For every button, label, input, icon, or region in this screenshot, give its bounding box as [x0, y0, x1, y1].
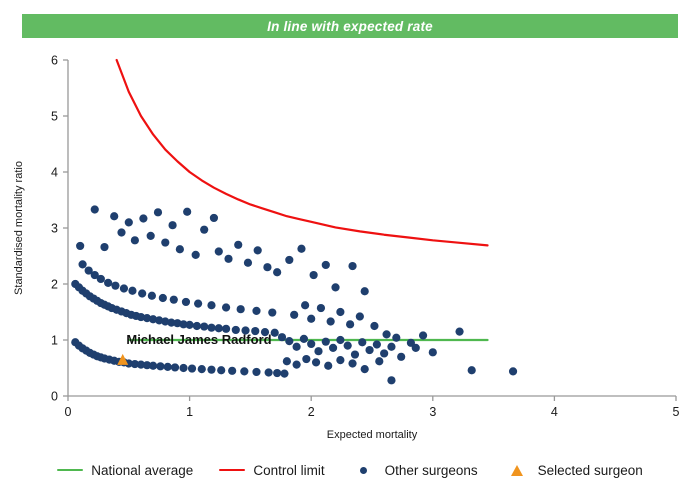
surgeon-point [182, 298, 190, 306]
surgeon-point [310, 271, 318, 279]
legend-triangle-icon-glyph [511, 465, 523, 476]
surgeon-point [283, 357, 291, 365]
surgeon-point [297, 245, 305, 253]
surgeon-point [188, 364, 196, 372]
x-tick-label: 0 [65, 405, 72, 419]
surgeon-point [285, 256, 293, 264]
surgeon-point [412, 344, 420, 352]
x-tick-label: 3 [429, 405, 436, 419]
surgeon-point [324, 362, 332, 370]
surgeon-point [193, 322, 201, 330]
surgeon-point [468, 366, 476, 374]
legend-dot-icon-glyph [360, 467, 367, 474]
surgeon-point [312, 358, 320, 366]
surgeon-point [207, 366, 215, 374]
y-tick-label: 5 [51, 110, 58, 124]
surgeon-point [336, 356, 344, 364]
x-tick-label: 1 [186, 405, 193, 419]
x-tick-label: 2 [308, 405, 315, 419]
surgeon-point [387, 343, 395, 351]
legend-line-icon [219, 463, 245, 477]
surgeon-point [322, 338, 330, 346]
surgeon-point [78, 260, 86, 268]
y-tick-label: 0 [51, 390, 58, 404]
plot-canvas: 0123450123456Expected mortalityStandardi… [0, 0, 700, 500]
surgeon-point [278, 333, 286, 341]
surgeon-point [336, 336, 344, 344]
surgeon-point [91, 205, 99, 213]
legend-line-icon-glyph [57, 469, 83, 472]
surgeon-point [375, 357, 383, 365]
surgeon-point [348, 359, 356, 367]
surgeon-point [336, 308, 344, 316]
legend-label: National average [91, 463, 193, 478]
surgeon-point [344, 342, 352, 350]
surgeon-point [240, 367, 248, 375]
surgeon-point [170, 296, 178, 304]
surgeon-point [314, 347, 322, 355]
surgeon-point [380, 349, 388, 357]
surgeon-point [356, 312, 364, 320]
surgeon-point [111, 282, 119, 290]
surgeon-point [183, 208, 191, 216]
surgeon-point [171, 363, 179, 371]
chart-legend: National averageControl limitOther surge… [0, 455, 700, 485]
surgeon-point [429, 348, 437, 356]
surgeon-point [346, 320, 354, 328]
legend-item-other-surgeons[interactable]: Other surgeons [351, 463, 478, 478]
surgeon-point [265, 368, 273, 376]
surgeon-point [351, 350, 359, 358]
surgeon-point [307, 340, 315, 348]
surgeon-point [207, 301, 215, 309]
surgeon-point [285, 337, 293, 345]
legend-item-control-limit[interactable]: Control limit [219, 463, 324, 478]
y-tick-label: 1 [51, 334, 58, 348]
legend-item-national-average[interactable]: National average [57, 463, 193, 478]
y-tick-label: 6 [51, 54, 58, 68]
surgeon-point [161, 238, 169, 246]
surgeon-point [382, 330, 390, 338]
surgeon-point [159, 294, 167, 302]
y-tick-label: 4 [51, 166, 58, 180]
surgeon-point [200, 322, 208, 330]
surgeon-point [301, 301, 309, 309]
chart-root: In line with expected rate 0123450123456… [0, 0, 700, 500]
surgeon-point [327, 317, 335, 325]
funnel-plot: 0123450123456Expected mortalityStandardi… [0, 0, 700, 500]
surgeon-point [154, 208, 162, 216]
surgeon-point [317, 304, 325, 312]
control-limit-line [117, 60, 488, 245]
surgeon-point [179, 364, 187, 372]
surgeon-point [207, 324, 215, 332]
surgeon-point [300, 335, 308, 343]
surgeon-point [273, 369, 281, 377]
surgeon-point [192, 251, 200, 259]
axes: 0123450123456Expected mortalityStandardi… [13, 54, 680, 442]
surgeon-point [228, 367, 236, 375]
surgeon-point [168, 221, 176, 229]
surgeon-point [392, 334, 400, 342]
surgeon-point [397, 353, 405, 361]
surgeon-point [120, 284, 128, 292]
surgeon-point [222, 303, 230, 311]
surgeon-point [365, 346, 373, 354]
surgeon-point [419, 331, 427, 339]
surgeon-point [176, 245, 184, 253]
y-tick-label: 3 [51, 222, 58, 236]
surgeon-point [293, 361, 301, 369]
surgeon-point [217, 366, 225, 374]
legend-label: Other surgeons [385, 463, 478, 478]
legend-dot-icon [351, 463, 377, 477]
surgeon-point [194, 300, 202, 308]
surgeon-point [128, 287, 136, 295]
surgeon-point [254, 246, 262, 254]
surgeon-point [148, 292, 156, 300]
x-tick-label: 4 [551, 405, 558, 419]
surgeon-point [273, 268, 281, 276]
surgeon-point [361, 365, 369, 373]
surgeon-point [358, 338, 366, 346]
surgeon-point [139, 214, 147, 222]
surgeon-point [147, 232, 155, 240]
surgeon-point [293, 343, 301, 351]
surgeon-point [455, 328, 463, 336]
surgeon-point [164, 363, 172, 371]
surgeon-point [373, 340, 381, 348]
surgeon-point [361, 287, 369, 295]
surgeon-point [215, 247, 223, 255]
surgeon-point [138, 289, 146, 297]
surgeon-point [76, 242, 84, 250]
legend-triangle-icon [504, 463, 530, 477]
surgeon-point [322, 261, 330, 269]
x-tick-label: 5 [673, 405, 680, 419]
surgeon-point [252, 307, 260, 315]
surgeon-point [268, 308, 276, 316]
selected-surgeon-label: Michael James Radford [126, 332, 271, 347]
legend-label: Control limit [253, 463, 324, 478]
surgeon-point [252, 368, 260, 376]
surgeon-point [302, 355, 310, 363]
surgeon-point [329, 344, 337, 352]
surgeon-point [224, 255, 232, 263]
surgeon-point [125, 218, 133, 226]
legend-item-selected-surgeon[interactable]: Selected surgeon [504, 463, 643, 478]
legend-line-icon-glyph [219, 469, 245, 472]
legend-line-icon [57, 463, 83, 477]
surgeon-point [234, 241, 242, 249]
surgeon-point [186, 321, 194, 329]
surgeon-point [307, 315, 315, 323]
legend-label: Selected surgeon [538, 463, 643, 478]
surgeon-point [509, 367, 517, 375]
surgeon-point [244, 259, 252, 267]
surgeon-point [271, 329, 279, 337]
surgeon-point [370, 322, 378, 330]
surgeon-point [117, 228, 125, 236]
surgeon-point [348, 262, 356, 270]
surgeon-point [200, 226, 208, 234]
x-axis-title: Expected mortality [327, 429, 418, 441]
surgeon-point [237, 305, 245, 313]
other-surgeons-points [71, 205, 517, 384]
surgeon-point [210, 214, 218, 222]
surgeon-point [131, 236, 139, 244]
surgeon-point [290, 311, 298, 319]
surgeon-point [104, 279, 112, 287]
surgeon-point [110, 212, 118, 220]
y-tick-label: 2 [51, 278, 58, 292]
y-axis-title: Standardised mortality ratio [13, 161, 25, 295]
surgeon-point [97, 275, 105, 283]
surgeon-point [156, 362, 164, 370]
surgeon-point [149, 362, 157, 370]
surgeon-point [100, 243, 108, 251]
surgeon-point [198, 365, 206, 373]
surgeon-point [263, 263, 271, 271]
surgeon-point [280, 370, 288, 378]
surgeon-point [331, 283, 339, 291]
surgeon-point [387, 376, 395, 384]
